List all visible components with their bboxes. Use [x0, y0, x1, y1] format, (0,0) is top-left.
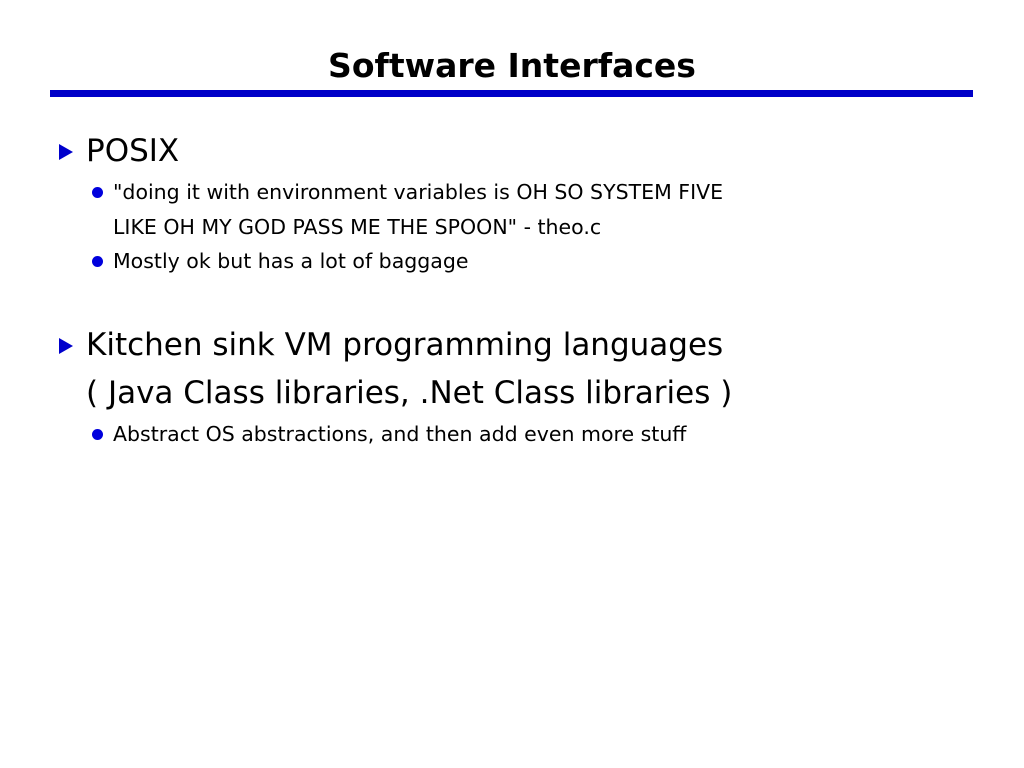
slide-body: POSIX "doing it with environment variabl…	[0, 128, 1024, 451]
bullet-level2-label: Mostly ok but has a lot of baggage	[113, 244, 468, 278]
triangle-bullet-icon	[56, 142, 76, 162]
page-title: Software Interfaces	[50, 48, 974, 84]
bullet-level1-label: Kitchen sink VM programming languages	[86, 322, 723, 369]
topic-spacer	[0, 278, 1024, 322]
bullet-level2-label: "doing it with environment variables is …	[113, 175, 723, 209]
topic-block: Kitchen sink VM programming languages ( …	[0, 322, 1024, 451]
bullet-level1: POSIX	[0, 128, 1024, 175]
title-underline-divider	[50, 90, 973, 97]
bullet-level2: Abstract OS abstractions, and then add e…	[0, 417, 1024, 451]
dot-bullet-icon	[92, 429, 103, 440]
bullet-level2-continuation: LIKE OH MY GOD PASS ME THE SPOON" - theo…	[0, 210, 1024, 244]
bullet-level2: "doing it with environment variables is …	[0, 175, 1024, 209]
topic-block: POSIX "doing it with environment variabl…	[0, 128, 1024, 278]
bullet-level1-continuation: ( Java Class libraries, .Net Class libra…	[0, 370, 1024, 417]
bullet-level2-label: Abstract OS abstractions, and then add e…	[113, 417, 686, 451]
bullet-level1: Kitchen sink VM programming languages	[0, 322, 1024, 369]
presentation-slide: Software Interfaces POSIX "doing it with…	[0, 0, 1024, 768]
bullet-level1-label: POSIX	[86, 128, 179, 175]
triangle-bullet-icon	[56, 336, 76, 356]
dot-bullet-icon	[92, 256, 103, 267]
dot-bullet-icon	[92, 187, 103, 198]
bullet-level2: Mostly ok but has a lot of baggage	[0, 244, 1024, 278]
